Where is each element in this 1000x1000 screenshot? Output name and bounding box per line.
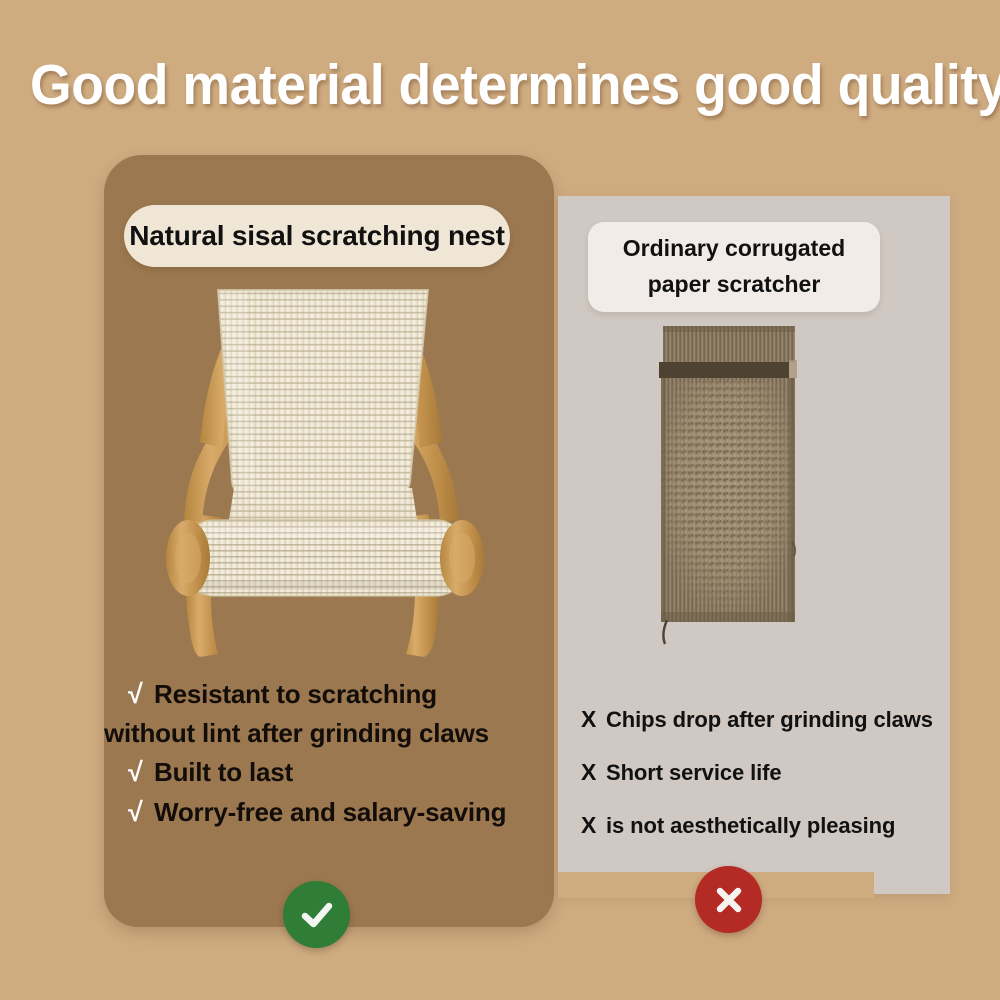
bad-feature-label: is not aesthetically pleasing [606, 813, 895, 839]
bad-product-badge: Ordinary corrugated paper scratcher [588, 222, 880, 312]
good-product-badge: Natural sisal scratching nest [124, 205, 510, 267]
bad-feature-list: X Chips drop after grinding claws X Shor… [581, 706, 951, 865]
bad-feature-label: Short service life [606, 760, 782, 786]
bad-feature-item: X Chips drop after grinding claws [581, 706, 951, 733]
check-mark-icon: √ [128, 794, 154, 831]
good-feature-list: √ Resistant to scratching without lint a… [128, 676, 552, 834]
bad-verdict-badge [695, 866, 762, 933]
good-feature-item-continued: without lint after grinding claws [128, 716, 552, 751]
bad-feature-item: X is not aesthetically pleasing [581, 812, 951, 839]
good-feature-label: Resistant to scratching [154, 677, 437, 712]
good-verdict-badge [283, 881, 350, 948]
sisal-scratcher-image [160, 282, 490, 660]
good-feature-label-line2: without lint after grinding claws [104, 716, 489, 751]
bad-feature-item: X Short service life [581, 759, 951, 786]
bad-feature-label: Chips drop after grinding claws [606, 707, 933, 733]
good-feature-item: √ Built to last [128, 754, 552, 791]
page-title: Good material determines good quality [30, 52, 970, 118]
comparison-poster: Good material determines good quality Na… [0, 0, 1000, 1000]
good-feature-label: Worry-free and salary-saving [154, 795, 506, 830]
check-icon [297, 895, 337, 935]
bad-product-badge-label-line1: Ordinary corrugated [623, 231, 845, 267]
cross-icon [711, 882, 747, 918]
cross-mark-icon: X [581, 759, 606, 786]
good-feature-label: Built to last [154, 755, 293, 790]
good-product-badge-label: Natural sisal scratching nest [129, 220, 504, 252]
check-mark-icon: √ [128, 754, 154, 791]
cross-mark-icon: X [581, 706, 606, 733]
good-feature-item: √ Resistant to scratching [128, 676, 552, 713]
bad-product-badge-label-line2: paper scratcher [648, 267, 821, 303]
corrugated-scratcher-image [653, 324, 805, 652]
cross-mark-icon: X [581, 812, 606, 839]
good-feature-item: √ Worry-free and salary-saving [128, 794, 552, 831]
check-mark-icon: √ [128, 676, 154, 713]
